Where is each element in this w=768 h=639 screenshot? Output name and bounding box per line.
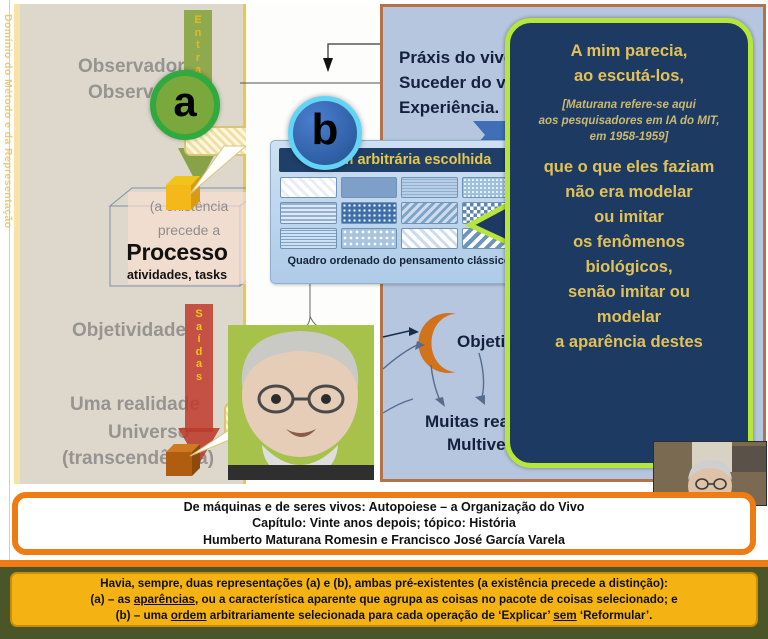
label-objetividade: Objetividade: [72, 320, 186, 342]
process-subtitle: atividades, tasks: [112, 268, 242, 282]
bottom-note-line-3-suffix: ‘Reformular’.: [577, 609, 653, 622]
bubble-note-2: aos pesquisadores em IA do MIT,: [520, 113, 738, 129]
process-title: Processo: [112, 239, 242, 266]
bubble-line-9: modelar: [520, 305, 738, 330]
bottom-note-box: Havia, sempre, duas representações (a) e…: [10, 572, 758, 627]
bottom-note-line-3-prefix: (b) – uma: [116, 609, 171, 622]
photo-maturana-art: [228, 325, 374, 480]
reference-line-2: Capítulo: Vinte anos depois; tópico: His…: [252, 515, 516, 532]
bubble-line-5: ou imitar: [520, 205, 738, 230]
reference-line-1: De máquinas e de seres vivos: Autopoiese…: [184, 499, 585, 516]
bubble-line-4: não era modelar: [520, 180, 738, 205]
bottom-note-line-3-mid: arbitrariamente selecionada para cada op…: [207, 609, 554, 622]
bottom-note-line-2-prefix: (a) – as: [90, 593, 134, 606]
bubble-note-3: em 1958-1959]: [520, 129, 738, 145]
speech-bubble-maturana-quote: A mim parecia, ao escutá-los, [Maturana …: [505, 18, 753, 468]
bubble-line-6: os fenômenos: [520, 230, 738, 255]
left-panel-inner: Observador Observação Entradas (a existê…: [62, 4, 241, 484]
bottom-note-line-1: Havia, sempre, duas representações (a) e…: [100, 576, 668, 592]
photo-maturana: [228, 325, 374, 480]
table-cell: [341, 202, 398, 223]
bottom-note-line-2-suffix: , ou a característica aparente que agrup…: [195, 593, 678, 606]
bubble-line-8: senão imitar ou: [520, 280, 738, 305]
slide-top-frame: [0, 0, 768, 3]
reference-line-3: Humberto Maturana Romesin e Francisco Jo…: [203, 532, 565, 549]
table-cell: [341, 228, 398, 249]
reference-box: De máquinas e de seres vivos: Autopoiese…: [12, 492, 756, 555]
left-panel-method-domain: Domínio do Método e da Representação Obs…: [14, 4, 246, 484]
bubble-line-7: biológicos,: [520, 255, 738, 280]
process-line-2: precede a: [130, 222, 248, 238]
table-cell: [341, 177, 398, 198]
bubble-line-2: ao escutá-los,: [520, 64, 738, 89]
table-cell: [280, 228, 337, 249]
bottom-strip: Havia, sempre, duas representações (a) e…: [0, 560, 768, 639]
table-cell: [401, 228, 458, 249]
speech-bubble-content: A mim parecia, ao escutá-los, [Maturana …: [520, 39, 738, 355]
table-cell: [280, 202, 337, 223]
badge-b[interactable]: b: [288, 96, 362, 170]
table-cell: [401, 177, 458, 198]
bottom-note-line-3-underline-2: sem: [553, 609, 576, 622]
bottom-note-line-2: (a) – as aparências, ou a característica…: [90, 592, 677, 608]
bottom-note-line-3: (b) – uma ordem arbitrariamente selecion…: [116, 608, 653, 624]
table-cell: [280, 177, 337, 198]
vertical-caption-label: Domínio do Método e da Representação: [0, 14, 14, 314]
bottom-note-line-2-underline: aparências: [134, 593, 195, 606]
badge-a[interactable]: a: [150, 70, 220, 140]
slide-canvas: Domínio do Método e da Representação Obs…: [0, 0, 768, 639]
connector-arrows-top: [240, 20, 390, 90]
bubble-note-1: [Maturana refere-se aqui: [520, 97, 738, 113]
bottom-note-line-3-underline: ordem: [171, 609, 207, 622]
bubble-line-1: A mim parecia,: [520, 39, 738, 64]
table-cell: [401, 202, 458, 223]
saidas-arrow-label: Saídas: [178, 308, 220, 383]
bubble-line-10: a aparência destes: [520, 330, 738, 355]
bubble-line-3: que o que eles faziam: [520, 155, 738, 180]
bottom-strip-accent: [0, 560, 768, 567]
